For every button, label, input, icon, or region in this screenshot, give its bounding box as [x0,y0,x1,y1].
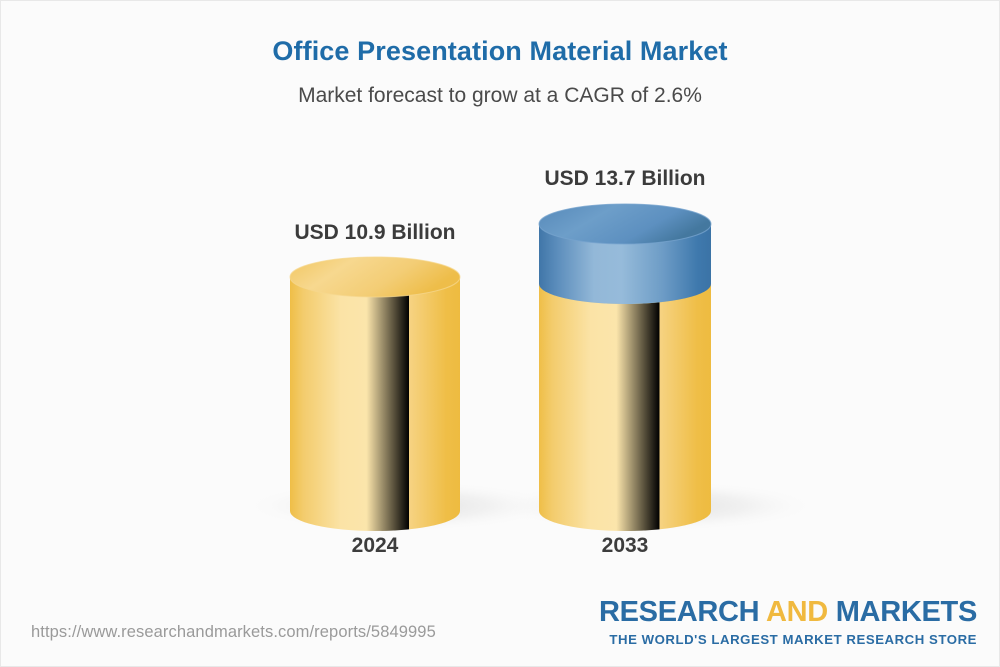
logo-word-markets: MARKETS [836,596,977,628]
x-axis-label-2033: 2033 [539,534,711,558]
logo-word-and: AND [766,596,836,628]
logo-word-research: RESEARCH [599,596,766,628]
source-url[interactable]: https://www.researchandmarkets.com/repor… [31,623,436,642]
researchandmarkets-logo[interactable]: RESEARCH AND MARKETS THE WORLD'S LARGEST… [599,598,977,646]
cylinder-chart-svg [1,1,1000,667]
x-axis-label-2024: 2024 [290,534,460,558]
logo-tagline: THE WORLD'S LARGEST MARKET RESEARCH STOR… [599,627,977,646]
logo-wordmark: RESEARCH AND MARKETS [599,598,977,627]
chart-plot-area: USD 10.9 Billion 2024 USD 13.7 Billion 2… [1,1,1000,667]
bar-labels-2024: USD 10.9 Billion 2024 [290,1,460,667]
value-label-2024: USD 10.9 Billion [290,221,460,245]
value-label-2033: USD 13.7 Billion [539,167,711,191]
bar-labels-2033: USD 13.7 Billion 2033 [539,1,711,667]
infographic-canvas: Office Presentation Material Market Mark… [0,0,1000,667]
